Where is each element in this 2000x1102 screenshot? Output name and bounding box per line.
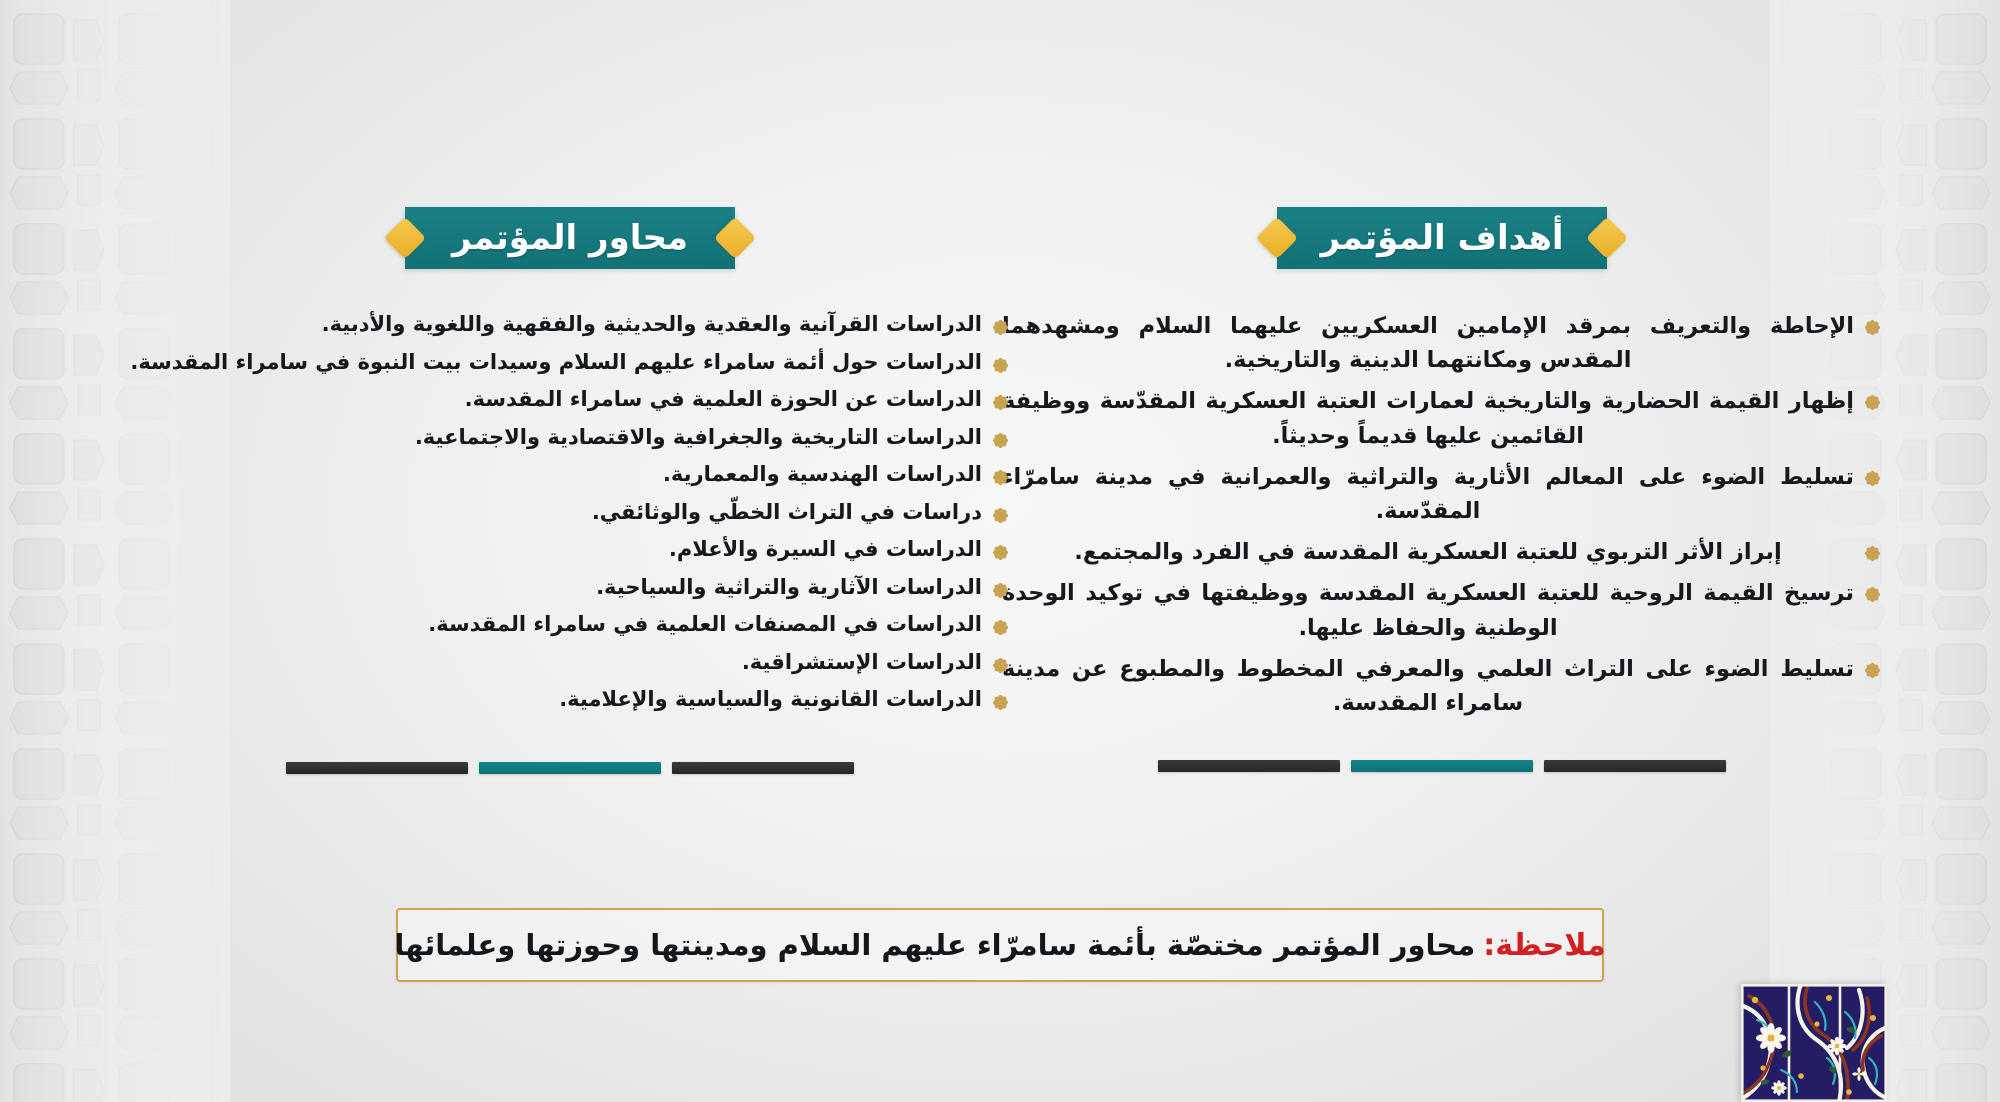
rosette-bullet-icon <box>991 543 1010 562</box>
note-label: ملاحظة: <box>1483 928 1605 963</box>
rosette-bullet-icon <box>1863 585 1882 604</box>
themes-panel: محاور المؤتمر الدراسات القرآنية والعقدية… <box>130 205 1010 774</box>
objective-text: إظهار القيمة الحضارية والتاريخية لعمارات… <box>1002 384 1854 452</box>
theme-text: الدراسات في المصنفات العلمية في سامراء ا… <box>130 609 982 641</box>
list-item: دراسات في التراث الخطّي والوثائقي. <box>130 497 1010 529</box>
rosette-bullet-icon <box>1863 661 1882 680</box>
list-item: تسليط الضوء على المعالم الأثارية والتراث… <box>1002 460 1882 528</box>
rosette-bullet-icon <box>1863 393 1882 412</box>
note-box: ملاحظة: محاور المؤتمر مختصّة بأئمة سامرّ… <box>396 908 1604 982</box>
rosette-bullet-icon <box>1863 544 1882 563</box>
list-item: ترسيخ القيمة الروحية للعتبة العسكرية الم… <box>1002 576 1882 644</box>
theme-text: الدراسات الإستشراقية. <box>130 647 982 679</box>
objectives-banner: أهداف المؤتمر <box>1002 205 1882 271</box>
diamond-accent-icon <box>714 217 756 259</box>
rosette-bullet-icon <box>991 656 1010 675</box>
objectives-banner-title: أهداف المؤتمر <box>1320 221 1563 255</box>
list-item: إظهار القيمة الحضارية والتاريخية لعمارات… <box>1002 384 1882 452</box>
divider-bar-teal <box>1351 760 1533 772</box>
objective-text: تسليط الضوء على المعالم الأثارية والتراث… <box>1002 460 1854 528</box>
diamond-accent-icon <box>384 217 426 259</box>
note-text: محاور المؤتمر مختصّة بأئمة سامرّاء عليهم… <box>394 928 1475 962</box>
list-item: الدراسات الإستشراقية. <box>130 647 1010 679</box>
theme-text: الدراسات الآثارية والتراثية والسياحية. <box>130 572 982 604</box>
diamond-accent-icon <box>1586 217 1628 259</box>
objectives-list: الإحاطة والتعريف بمرقد الإمامين العسكريي… <box>1002 309 1882 720</box>
list-item: إبراز الأثر التربوي للعتبة العسكرية المق… <box>1002 535 1882 569</box>
rosette-bullet-icon <box>991 618 1010 637</box>
corner-tile-ornament <box>1741 984 1887 1102</box>
rosette-bullet-icon <box>1863 469 1882 488</box>
objectives-panel: أهداف المؤتمر الإحاطة والتعريف بمرقد الإ… <box>1002 205 1882 772</box>
list-item: تسليط الضوء على التراث العلمي والمعرفي ا… <box>1002 652 1882 720</box>
objective-text: ترسيخ القيمة الروحية للعتبة العسكرية الم… <box>1002 576 1854 644</box>
rosette-bullet-icon <box>991 431 1010 450</box>
list-item: الدراسات الآثارية والتراثية والسياحية. <box>130 572 1010 604</box>
list-item: الدراسات في المصنفات العلمية في سامراء ا… <box>130 609 1010 641</box>
divider-bar-teal <box>479 762 661 774</box>
themes-list: الدراسات القرآنية والعقدية والحديثية وال… <box>130 309 1010 716</box>
theme-text: دراسات في التراث الخطّي والوثائقي. <box>130 497 982 529</box>
poster-canvas: أهداف المؤتمر الإحاطة والتعريف بمرقد الإ… <box>0 0 2000 1102</box>
list-item: الدراسات الهندسية والمعمارية. <box>130 459 1010 491</box>
divider-bar-dark <box>1158 760 1340 772</box>
list-item: الدراسات القرآنية والعقدية والحديثية وال… <box>130 309 1010 341</box>
objective-text: الإحاطة والتعريف بمرقد الإمامين العسكريي… <box>1002 309 1854 377</box>
divider-bar-dark <box>1544 760 1726 772</box>
list-item: الدراسات التاريخية والجغرافية والاقتصادي… <box>130 422 1010 454</box>
objective-text: إبراز الأثر التربوي للعتبة العسكرية المق… <box>1002 535 1854 569</box>
rosette-bullet-icon <box>991 506 1010 525</box>
theme-text: الدراسات القرآنية والعقدية والحديثية وال… <box>130 309 982 341</box>
divider-bar-dark <box>672 762 854 774</box>
theme-text: الدراسات الهندسية والمعمارية. <box>130 459 982 491</box>
themes-divider-bars <box>130 762 1010 774</box>
themes-banner-title: محاور المؤتمر <box>452 221 688 255</box>
theme-text: الدراسات حول أئمة سامراء عليهم السلام وس… <box>130 347 982 379</box>
rosette-bullet-icon <box>991 693 1010 712</box>
list-item: الدراسات في السيرة والأعلام. <box>130 534 1010 566</box>
rosette-bullet-icon <box>991 468 1010 487</box>
objective-text: تسليط الضوء على التراث العلمي والمعرفي ا… <box>1002 652 1854 720</box>
diamond-accent-icon <box>1256 217 1298 259</box>
theme-text: الدراسات عن الحوزة العلمية في سامراء الم… <box>130 384 982 416</box>
list-item: الدراسات القانونية والسياسية والإعلامية. <box>130 684 1010 716</box>
rosette-bullet-icon <box>991 393 1010 412</box>
divider-bar-dark <box>286 762 468 774</box>
list-item: الإحاطة والتعريف بمرقد الإمامين العسكريي… <box>1002 309 1882 377</box>
rosette-bullet-icon <box>991 318 1010 337</box>
list-item: الدراسات عن الحوزة العلمية في سامراء الم… <box>130 384 1010 416</box>
themes-banner: محاور المؤتمر <box>130 205 1010 271</box>
theme-text: الدراسات في السيرة والأعلام. <box>130 534 982 566</box>
rosette-bullet-icon <box>991 356 1010 375</box>
theme-text: الدراسات التاريخية والجغرافية والاقتصادي… <box>130 422 982 454</box>
rosette-bullet-icon <box>991 581 1010 600</box>
rosette-bullet-icon <box>1863 318 1882 337</box>
theme-text: الدراسات القانونية والسياسية والإعلامية. <box>130 684 982 716</box>
objectives-divider-bars <box>1002 760 1882 772</box>
list-item: الدراسات حول أئمة سامراء عليهم السلام وس… <box>130 347 1010 379</box>
